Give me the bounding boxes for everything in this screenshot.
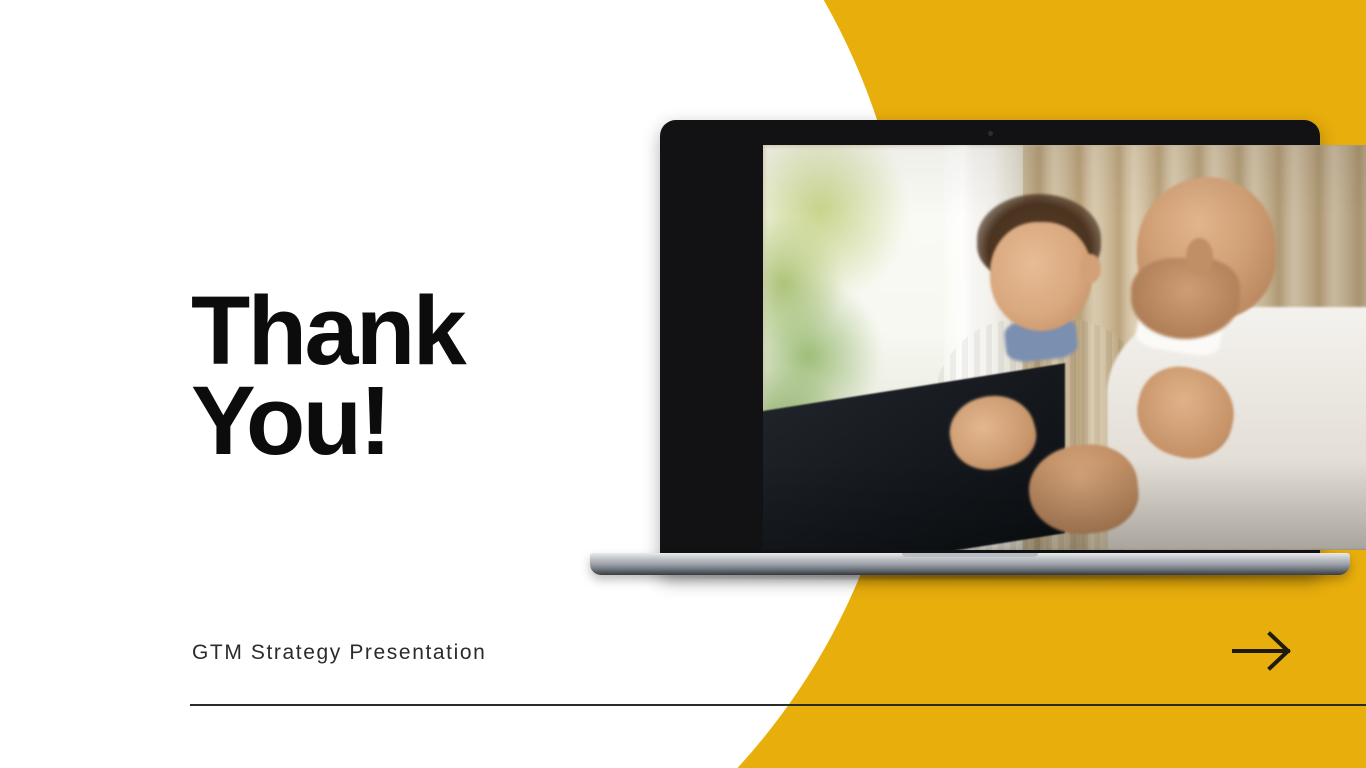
arrow-right-icon — [1232, 629, 1294, 673]
webcam-dot-icon — [988, 131, 993, 136]
slide-canvas: Thank You! GTM Strategy Presentation — [0, 0, 1366, 768]
page-title: Thank You! — [191, 286, 621, 466]
laptop-screen — [763, 145, 1366, 550]
presentation-subtitle: GTM Strategy Presentation — [192, 641, 486, 665]
presentation-photo — [763, 145, 1366, 550]
next-slide-button[interactable] — [1232, 629, 1294, 673]
laptop-shadow — [600, 572, 1340, 581]
laptop-mockup — [590, 120, 1350, 590]
photo-vignette — [763, 145, 1366, 550]
horizontal-divider — [190, 704, 1366, 706]
laptop-lid — [660, 120, 1320, 575]
